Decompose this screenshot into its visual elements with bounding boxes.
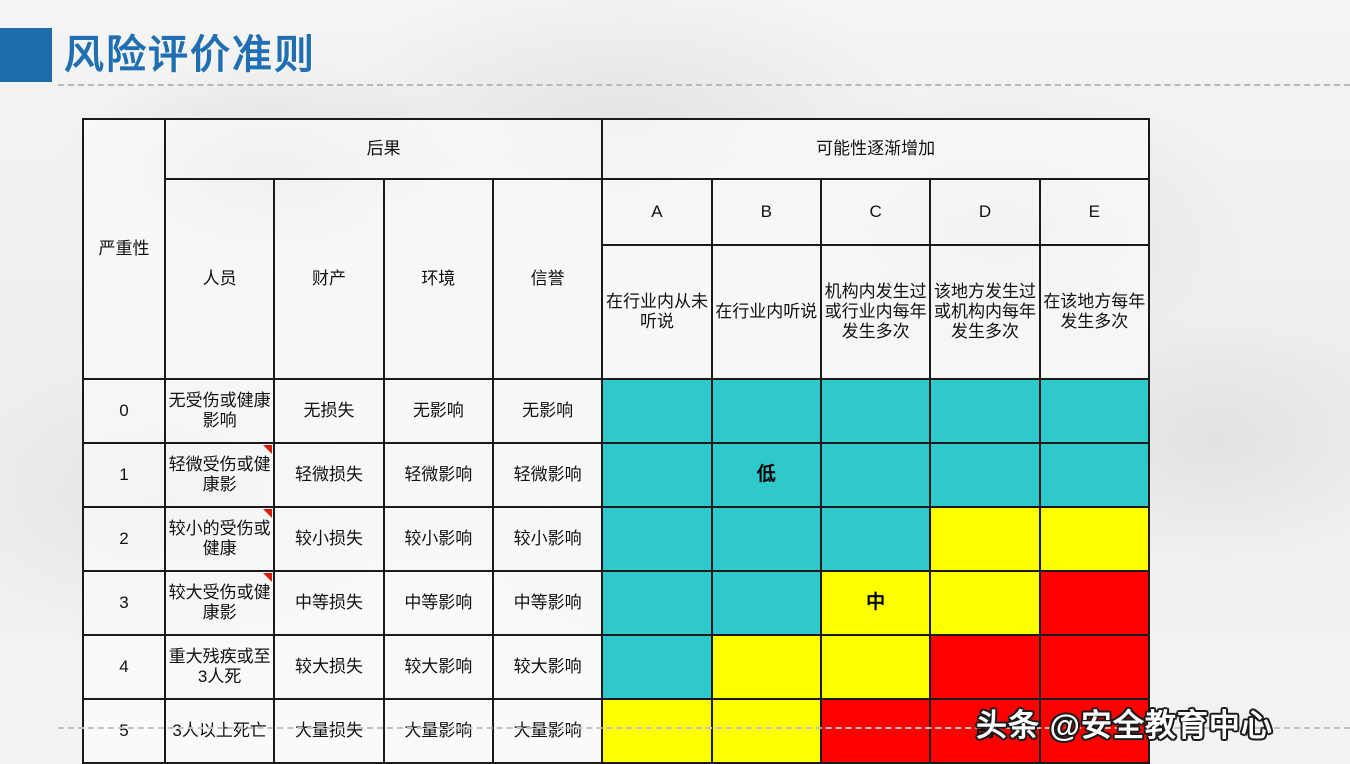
risk-cell-label: 低 <box>757 464 776 485</box>
risk-cell-3A[interactable] <box>602 571 711 635</box>
consequence-column-label: 人员 <box>203 269 237 288</box>
risk-matrix-table-wrapper: 严重性后果可能性逐渐增加人员财产环境信誉ABCDE在行业内从未听说在行业内听说机… <box>82 118 1150 718</box>
property-consequence-value: 较小损失 <box>295 529 363 548</box>
likelihood-description-C: 机构内发生过或行业内每年发生多次 <box>821 245 930 379</box>
severity-level-cell: 1 <box>83 443 165 507</box>
risk-cell-4B[interactable] <box>712 635 821 699</box>
likelihood-description-label: 该地方发生过或机构内每年发生多次 <box>934 282 1036 341</box>
risk-matrix-table: 严重性后果可能性逐渐增加人员财产环境信誉ABCDE在行业内从未听说在行业内听说机… <box>82 118 1150 764</box>
reputation-consequence-cell: 中等影响 <box>493 571 602 635</box>
severity-level-value: 3 <box>119 593 128 612</box>
people-consequence-cell: 轻微受伤或健康影 <box>165 443 274 507</box>
environment-consequence-value: 轻微影响 <box>404 465 472 484</box>
people-consequence-value: 较小的受伤或健康 <box>169 519 271 558</box>
risk-cell-0C[interactable] <box>821 379 930 443</box>
risk-cell-3D[interactable] <box>930 571 1039 635</box>
people-consequence-value: 轻微受伤或健康影 <box>169 455 271 494</box>
likelihood-letter-C: C <box>821 179 930 245</box>
consequence-column-label: 环境 <box>421 269 455 288</box>
severity-level-cell: 0 <box>83 379 165 443</box>
people-consequence-value: 3人以上死亡 <box>172 721 266 740</box>
table-row: 1轻微受伤或健康影轻微损失轻微影响轻微影响低 <box>83 443 1149 507</box>
risk-cell-1D[interactable] <box>930 443 1039 507</box>
reputation-consequence-cell: 较大影响 <box>493 635 602 699</box>
severity-level-value: 4 <box>119 657 128 676</box>
reputation-consequence-value: 无影响 <box>522 401 573 420</box>
severity-level-value: 0 <box>119 401 128 420</box>
environment-consequence-cell: 较小影响 <box>384 507 493 571</box>
people-consequence-value: 较大受伤或健康影 <box>169 583 271 622</box>
likelihood-description-D: 该地方发生过或机构内每年发生多次 <box>930 245 1039 379</box>
consequence-group-header: 后果 <box>165 119 602 179</box>
reputation-consequence-value: 较大影响 <box>514 657 582 676</box>
table-header-group-row: 严重性后果可能性逐渐增加 <box>83 119 1149 179</box>
severity-header-cell: 严重性 <box>83 119 165 379</box>
environment-consequence-cell: 轻微影响 <box>384 443 493 507</box>
property-consequence-cell: 无损失 <box>274 379 383 443</box>
consequence-column-header-1: 人员 <box>165 179 274 379</box>
risk-cell-3E[interactable] <box>1040 571 1149 635</box>
risk-cell-2A[interactable] <box>602 507 711 571</box>
reputation-consequence-value: 大量影响 <box>514 721 582 740</box>
severity-level-value: 2 <box>119 529 128 548</box>
comment-marker-icon <box>263 509 272 518</box>
severity-level-cell: 5 <box>83 699 165 763</box>
severity-header-label: 严重性 <box>99 239 150 258</box>
reputation-consequence-cell: 大量影响 <box>493 699 602 763</box>
likelihood-letter-label: E <box>1089 202 1100 221</box>
reputation-consequence-cell: 轻微影响 <box>493 443 602 507</box>
likelihood-description-B: 在行业内听说 <box>712 245 821 379</box>
environment-consequence-cell: 较大影响 <box>384 635 493 699</box>
likelihood-description-label: 在行业内听说 <box>715 302 817 321</box>
severity-level-value: 1 <box>119 465 128 484</box>
reputation-consequence-value: 较小影响 <box>514 529 582 548</box>
slide-title-bar: 风险评价准则 <box>0 28 1350 84</box>
likelihood-letter-D: D <box>930 179 1039 245</box>
reputation-consequence-value: 中等影响 <box>514 593 582 612</box>
consequence-column-header-4: 信誉 <box>493 179 602 379</box>
risk-cell-4C[interactable] <box>821 635 930 699</box>
property-consequence-value: 中等损失 <box>295 593 363 612</box>
likelihood-letter-B: B <box>712 179 821 245</box>
table-row: 4重大残疾或至3人死较大损失较大影响较大影响 <box>83 635 1149 699</box>
consequence-group-label: 后果 <box>367 139 401 158</box>
risk-cell-5A[interactable] <box>602 699 711 763</box>
people-consequence-cell: 3人以上死亡 <box>165 699 274 763</box>
risk-cell-5C[interactable] <box>821 699 930 763</box>
table-header-sub-row: 人员财产环境信誉ABCDE <box>83 179 1149 245</box>
likelihood-letter-label: B <box>761 202 772 221</box>
watermark: 头条 @安全教育中心 <box>976 700 1273 745</box>
severity-level-cell: 2 <box>83 507 165 571</box>
risk-cell-2B[interactable] <box>712 507 821 571</box>
likelihood-group-label: 可能性逐渐增加 <box>816 139 935 158</box>
title-divider <box>58 84 1350 86</box>
severity-level-value: 5 <box>119 721 128 740</box>
consequence-column-label: 信誉 <box>531 269 565 288</box>
reputation-consequence-cell: 较小影响 <box>493 507 602 571</box>
risk-cell-1E[interactable] <box>1040 443 1149 507</box>
severity-level-cell: 3 <box>83 571 165 635</box>
property-consequence-value: 较大损失 <box>295 657 363 676</box>
risk-cell-0B[interactable] <box>712 379 821 443</box>
risk-cell-5B[interactable] <box>712 699 821 763</box>
people-consequence-cell: 较大受伤或健康影 <box>165 571 274 635</box>
risk-cell-2E[interactable] <box>1040 507 1149 571</box>
risk-cell-2D[interactable] <box>930 507 1039 571</box>
environment-consequence-value: 大量影响 <box>404 721 472 740</box>
risk-cell-2C[interactable] <box>821 507 930 571</box>
risk-cell-0A[interactable] <box>602 379 711 443</box>
property-consequence-value: 大量损失 <box>295 721 363 740</box>
table-row: 3较大受伤或健康影中等损失中等影响中等影响中 <box>83 571 1149 635</box>
people-consequence-cell: 重大残疾或至3人死 <box>165 635 274 699</box>
likelihood-letter-label: C <box>869 202 881 221</box>
risk-cell-4A[interactable] <box>602 635 711 699</box>
property-consequence-cell: 较大损失 <box>274 635 383 699</box>
risk-cell-label: 中 <box>866 592 885 613</box>
title-accent-square <box>0 28 52 82</box>
people-consequence-value: 无受伤或健康影响 <box>169 391 271 430</box>
comment-marker-icon <box>263 573 272 582</box>
people-consequence-cell: 无受伤或健康影响 <box>165 379 274 443</box>
likelihood-group-header: 可能性逐渐增加 <box>602 119 1149 179</box>
risk-cell-1A[interactable] <box>602 443 711 507</box>
environment-consequence-value: 较小影响 <box>404 529 472 548</box>
environment-consequence-value: 中等影响 <box>404 593 472 612</box>
people-consequence-cell: 较小的受伤或健康 <box>165 507 274 571</box>
consequence-column-header-2: 财产 <box>274 179 383 379</box>
property-consequence-value: 无损失 <box>303 401 354 420</box>
property-consequence-cell: 较小损失 <box>274 507 383 571</box>
property-consequence-cell: 中等损失 <box>274 571 383 635</box>
consequence-column-header-3: 环境 <box>384 179 493 379</box>
table-row: 0无受伤或健康影响无损失无影响无影响 <box>83 379 1149 443</box>
risk-cell-4E[interactable] <box>1040 635 1149 699</box>
reputation-consequence-cell: 无影响 <box>493 379 602 443</box>
likelihood-letter-label: D <box>979 202 991 221</box>
environment-consequence-cell: 大量影响 <box>384 699 493 763</box>
page-title: 风险评价准则 <box>64 24 316 86</box>
severity-level-cell: 4 <box>83 635 165 699</box>
likelihood-description-E: 在该地方每年发生多次 <box>1040 245 1149 379</box>
risk-cell-0E[interactable] <box>1040 379 1149 443</box>
likelihood-description-label: 机构内发生过或行业内每年发生多次 <box>825 282 927 341</box>
risk-cell-1B[interactable]: 低 <box>712 443 821 507</box>
people-consequence-value: 重大残疾或至3人死 <box>169 647 271 686</box>
property-consequence-cell: 大量损失 <box>274 699 383 763</box>
environment-consequence-value: 无影响 <box>413 401 464 420</box>
likelihood-description-label: 在行业内从未听说 <box>606 292 708 331</box>
likelihood-description-A: 在行业内从未听说 <box>602 245 711 379</box>
environment-consequence-value: 较大影响 <box>404 657 472 676</box>
likelihood-description-label: 在该地方每年发生多次 <box>1043 292 1145 331</box>
likelihood-letter-E: E <box>1040 179 1149 245</box>
risk-cell-0D[interactable] <box>930 379 1039 443</box>
property-consequence-value: 轻微损失 <box>295 465 363 484</box>
reputation-consequence-value: 轻微影响 <box>514 465 582 484</box>
likelihood-letter-label: A <box>651 202 662 221</box>
likelihood-letter-A: A <box>602 179 711 245</box>
risk-cell-3C[interactable]: 中 <box>821 571 930 635</box>
risk-cell-1C[interactable] <box>821 443 930 507</box>
comment-marker-icon <box>263 445 272 454</box>
risk-cell-3B[interactable] <box>712 571 821 635</box>
consequence-column-label: 财产 <box>312 269 346 288</box>
risk-cell-4D[interactable] <box>930 635 1039 699</box>
property-consequence-cell: 轻微损失 <box>274 443 383 507</box>
environment-consequence-cell: 中等影响 <box>384 571 493 635</box>
environment-consequence-cell: 无影响 <box>384 379 493 443</box>
table-row: 2较小的受伤或健康较小损失较小影响较小影响 <box>83 507 1149 571</box>
